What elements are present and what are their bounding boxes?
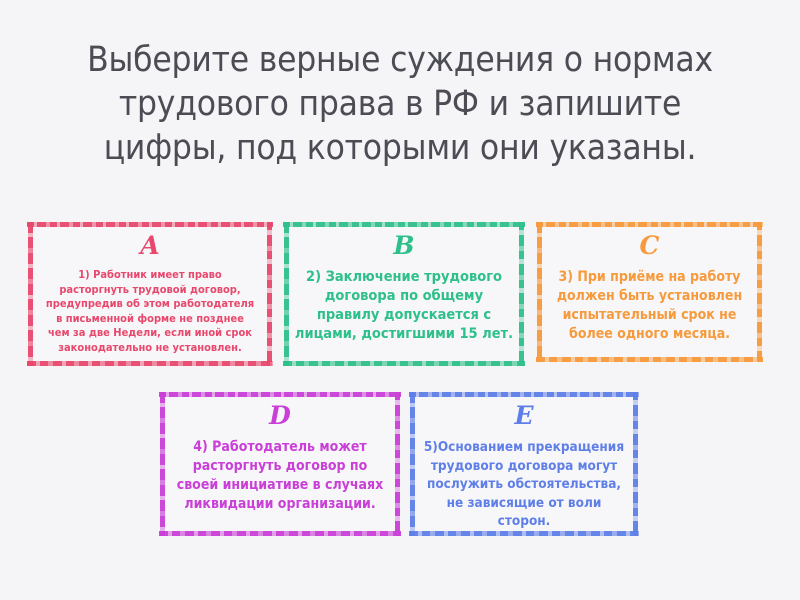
option-text-c: 3) При приёме на работу должен быть уста…	[547, 268, 752, 344]
option-letter-a: A	[28, 232, 272, 260]
card-border-bottom	[409, 531, 639, 536]
option-letter-e: E	[410, 402, 638, 430]
option-card-e[interactable]: E 5)Основанием прекращения трудового дог…	[410, 392, 638, 536]
option-text-b: 2) Заключение трудового договора по обще…	[294, 268, 514, 344]
option-card-d[interactable]: D 4) Работодатель может расторгнуть дого…	[160, 392, 400, 536]
option-text-e: 5)Основанием прекращения трудового догов…	[420, 438, 628, 531]
page-title: Выберите верные суждения о нормах трудов…	[0, 38, 800, 170]
card-border-top	[283, 222, 525, 227]
option-card-b[interactable]: B 2) Заключение трудового договора по об…	[284, 222, 524, 366]
card-border-bottom	[159, 531, 401, 536]
option-letter-b: B	[284, 232, 524, 260]
quiz-slide: Выберите верные суждения о нормах трудов…	[0, 0, 800, 600]
option-text-d: 4) Работодатель может расторгнуть догово…	[170, 438, 390, 514]
card-border-bottom	[536, 357, 763, 362]
card-border-top	[536, 222, 763, 227]
option-letter-c: C	[537, 232, 762, 260]
card-border-top	[409, 392, 639, 397]
option-card-c[interactable]: C 3) При приёме на работу должен быть ус…	[537, 222, 762, 362]
option-text-a: 1) Работник имеет право расторгнуть труд…	[38, 268, 262, 355]
option-letter-d: D	[160, 402, 400, 430]
card-border-top	[159, 392, 401, 397]
card-border-bottom	[27, 361, 273, 366]
card-border-bottom	[283, 361, 525, 366]
option-card-a[interactable]: A 1) Работник имеет право расторгнуть тр…	[28, 222, 272, 366]
card-border-top	[27, 222, 273, 227]
